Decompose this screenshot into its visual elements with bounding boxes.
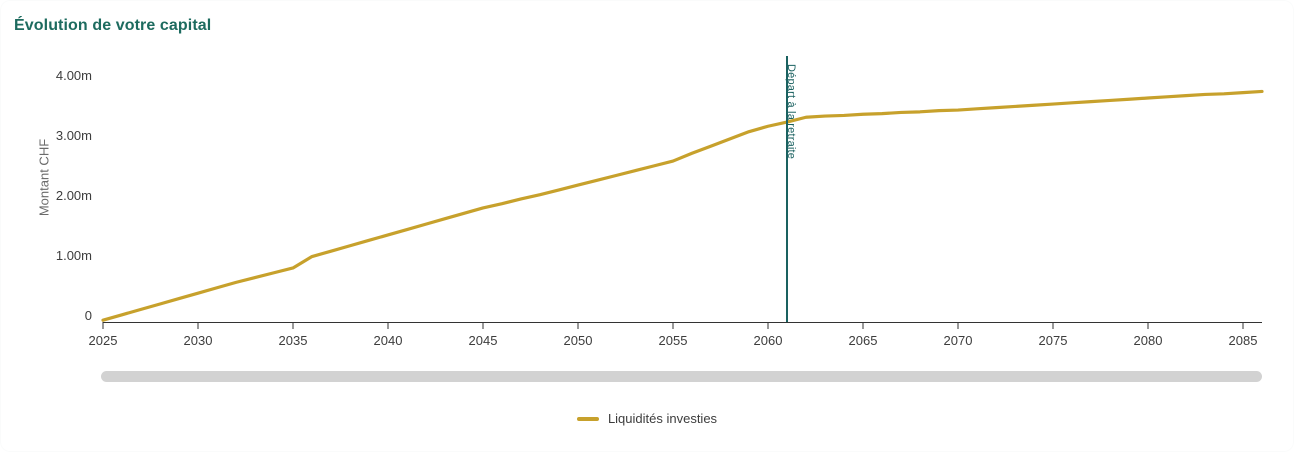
x-axis-tick-label: 2060 — [754, 333, 783, 348]
x-axis-tick-label: 2025 — [89, 333, 118, 348]
retirement-marker-label: Départ à la retraite — [785, 64, 797, 159]
x-axis-tick-label: 2030 — [184, 333, 213, 348]
chart-plot-area: Montant CHF 4.00m3.00m2.00m1.00m0 202520… — [0, 0, 1294, 452]
x-axis-tick-label: 2065 — [849, 333, 878, 348]
legend-item-liquidites-investies[interactable]: Liquidités investies — [577, 411, 717, 426]
chart-card: Évolution de votre capital Montant CHF 4… — [0, 0, 1294, 452]
x-axis-tick-label: 2035 — [279, 333, 308, 348]
x-axis-tick-label: 2050 — [564, 333, 593, 348]
y-axis-tick-label: 3.00m — [22, 128, 92, 143]
y-axis-tick-label: 4.00m — [22, 68, 92, 83]
x-axis-ticks — [103, 322, 1243, 329]
x-axis-tick-label: 2075 — [1039, 333, 1068, 348]
x-axis-tick-label: 2055 — [659, 333, 688, 348]
x-axis-tick-label: 2085 — [1229, 333, 1258, 348]
y-axis-tick-label: 0 — [22, 308, 92, 323]
x-axis-tick-label: 2040 — [374, 333, 403, 348]
chart-legend: Liquidités investies — [0, 411, 1294, 426]
x-axis-tick-label: 2045 — [469, 333, 498, 348]
legend-line-swatch-icon — [577, 417, 599, 421]
line-chart-svg — [0, 0, 1294, 452]
legend-item-label: Liquidités investies — [608, 411, 717, 426]
series-line-liquidites-investies — [103, 91, 1262, 320]
y-axis-tick-label: 1.00m — [22, 248, 92, 263]
x-axis-tick-label: 2070 — [944, 333, 973, 348]
y-axis-tick-label: 2.00m — [22, 188, 92, 203]
chart-range-scrollbar[interactable] — [101, 371, 1262, 382]
x-axis-tick-label: 2080 — [1134, 333, 1163, 348]
